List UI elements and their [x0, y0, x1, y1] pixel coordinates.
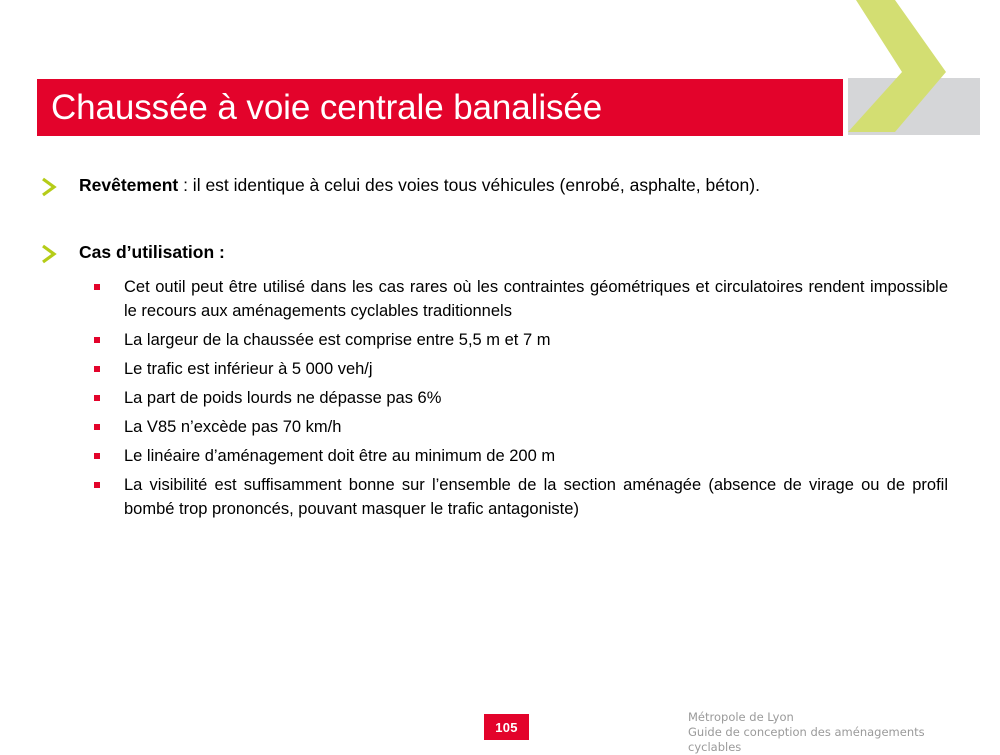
chevron-right-icon — [40, 177, 60, 197]
list-item: La part de poids lourds ne dépasse pas 6… — [94, 386, 948, 410]
logo-svg — [843, 0, 1000, 140]
metropole-de-lyon-logo — [843, 0, 1000, 140]
bullet-revetement-rest: : il est identique à celui des voies tou… — [178, 175, 760, 195]
bullet-revetement-lead: Revêtement — [79, 175, 178, 195]
list-item: La V85 n’excède pas 70 km/h — [94, 415, 948, 439]
footer-credit: Métropole de Lyon Guide de conception de… — [688, 710, 968, 755]
square-bullet-icon — [94, 395, 100, 401]
chevron-bullet-icon — [40, 244, 62, 266]
list-item-label: La part de poids lourds ne dépasse pas 6… — [124, 389, 441, 407]
chevron-bullet-icon — [40, 177, 62, 199]
bullet-cas-utilisation-lead: Cas d’utilisation — [79, 242, 214, 262]
square-bullet-icon — [94, 424, 100, 430]
list-item: Le linéaire d’aménagement doit être au m… — [94, 444, 948, 468]
list-item-label: La V85 n’excède pas 70 km/h — [124, 418, 341, 436]
list-item-label: Le linéaire d’aménagement doit être au m… — [124, 447, 555, 465]
bullet-cas-utilisation-rest: : — [214, 242, 225, 262]
page-number-badge: 105 — [484, 714, 529, 740]
list-item: Le trafic est inférieur à 5 000 veh/j — [94, 357, 948, 381]
content-spacer — [38, 203, 948, 239]
list-item-label: Le trafic est inférieur à 5 000 veh/j — [124, 360, 373, 378]
list-item: La visibilité est suffisamment bonne sur… — [94, 473, 948, 521]
square-bullet-icon — [94, 366, 100, 372]
square-bullet-icon — [94, 284, 100, 290]
list-item-label: Cet outil peut être utilisé dans les cas… — [124, 278, 948, 320]
list-item: La largeur de la chaussée est comprise e… — [94, 328, 948, 352]
list-item-label: La largeur de la chaussée est comprise e… — [124, 331, 550, 349]
sub-bullet-list: Cet outil peut être utilisé dans les cas… — [38, 275, 948, 521]
slide: Chaussée à voie centrale banalisée Revêt… — [0, 0, 1000, 750]
list-item: Cet outil peut être utilisé dans les cas… — [94, 275, 948, 323]
slide-content: Revêtement : il est identique à celui de… — [38, 172, 948, 526]
footer-organisation: Métropole de Lyon — [688, 710, 968, 725]
footer-document: Guide de conception des aménagements cyc… — [688, 725, 968, 755]
chevron-right-icon — [40, 244, 60, 264]
bullet-revetement: Revêtement : il est identique à celui de… — [38, 172, 948, 199]
bullet-cas-utilisation: Cas d’utilisation : — [38, 239, 948, 266]
list-item-label: La visibilité est suffisamment bonne sur… — [124, 476, 948, 518]
square-bullet-icon — [94, 337, 100, 343]
page-title: Chaussée à voie centrale banalisée — [37, 90, 602, 125]
slide-title-bar: Chaussée à voie centrale banalisée — [37, 79, 843, 136]
square-bullet-icon — [94, 453, 100, 459]
bullet-revetement-text: Revêtement : il est identique à celui de… — [79, 172, 948, 199]
square-bullet-icon — [94, 482, 100, 488]
bullet-cas-utilisation-text: Cas d’utilisation : — [79, 239, 948, 266]
